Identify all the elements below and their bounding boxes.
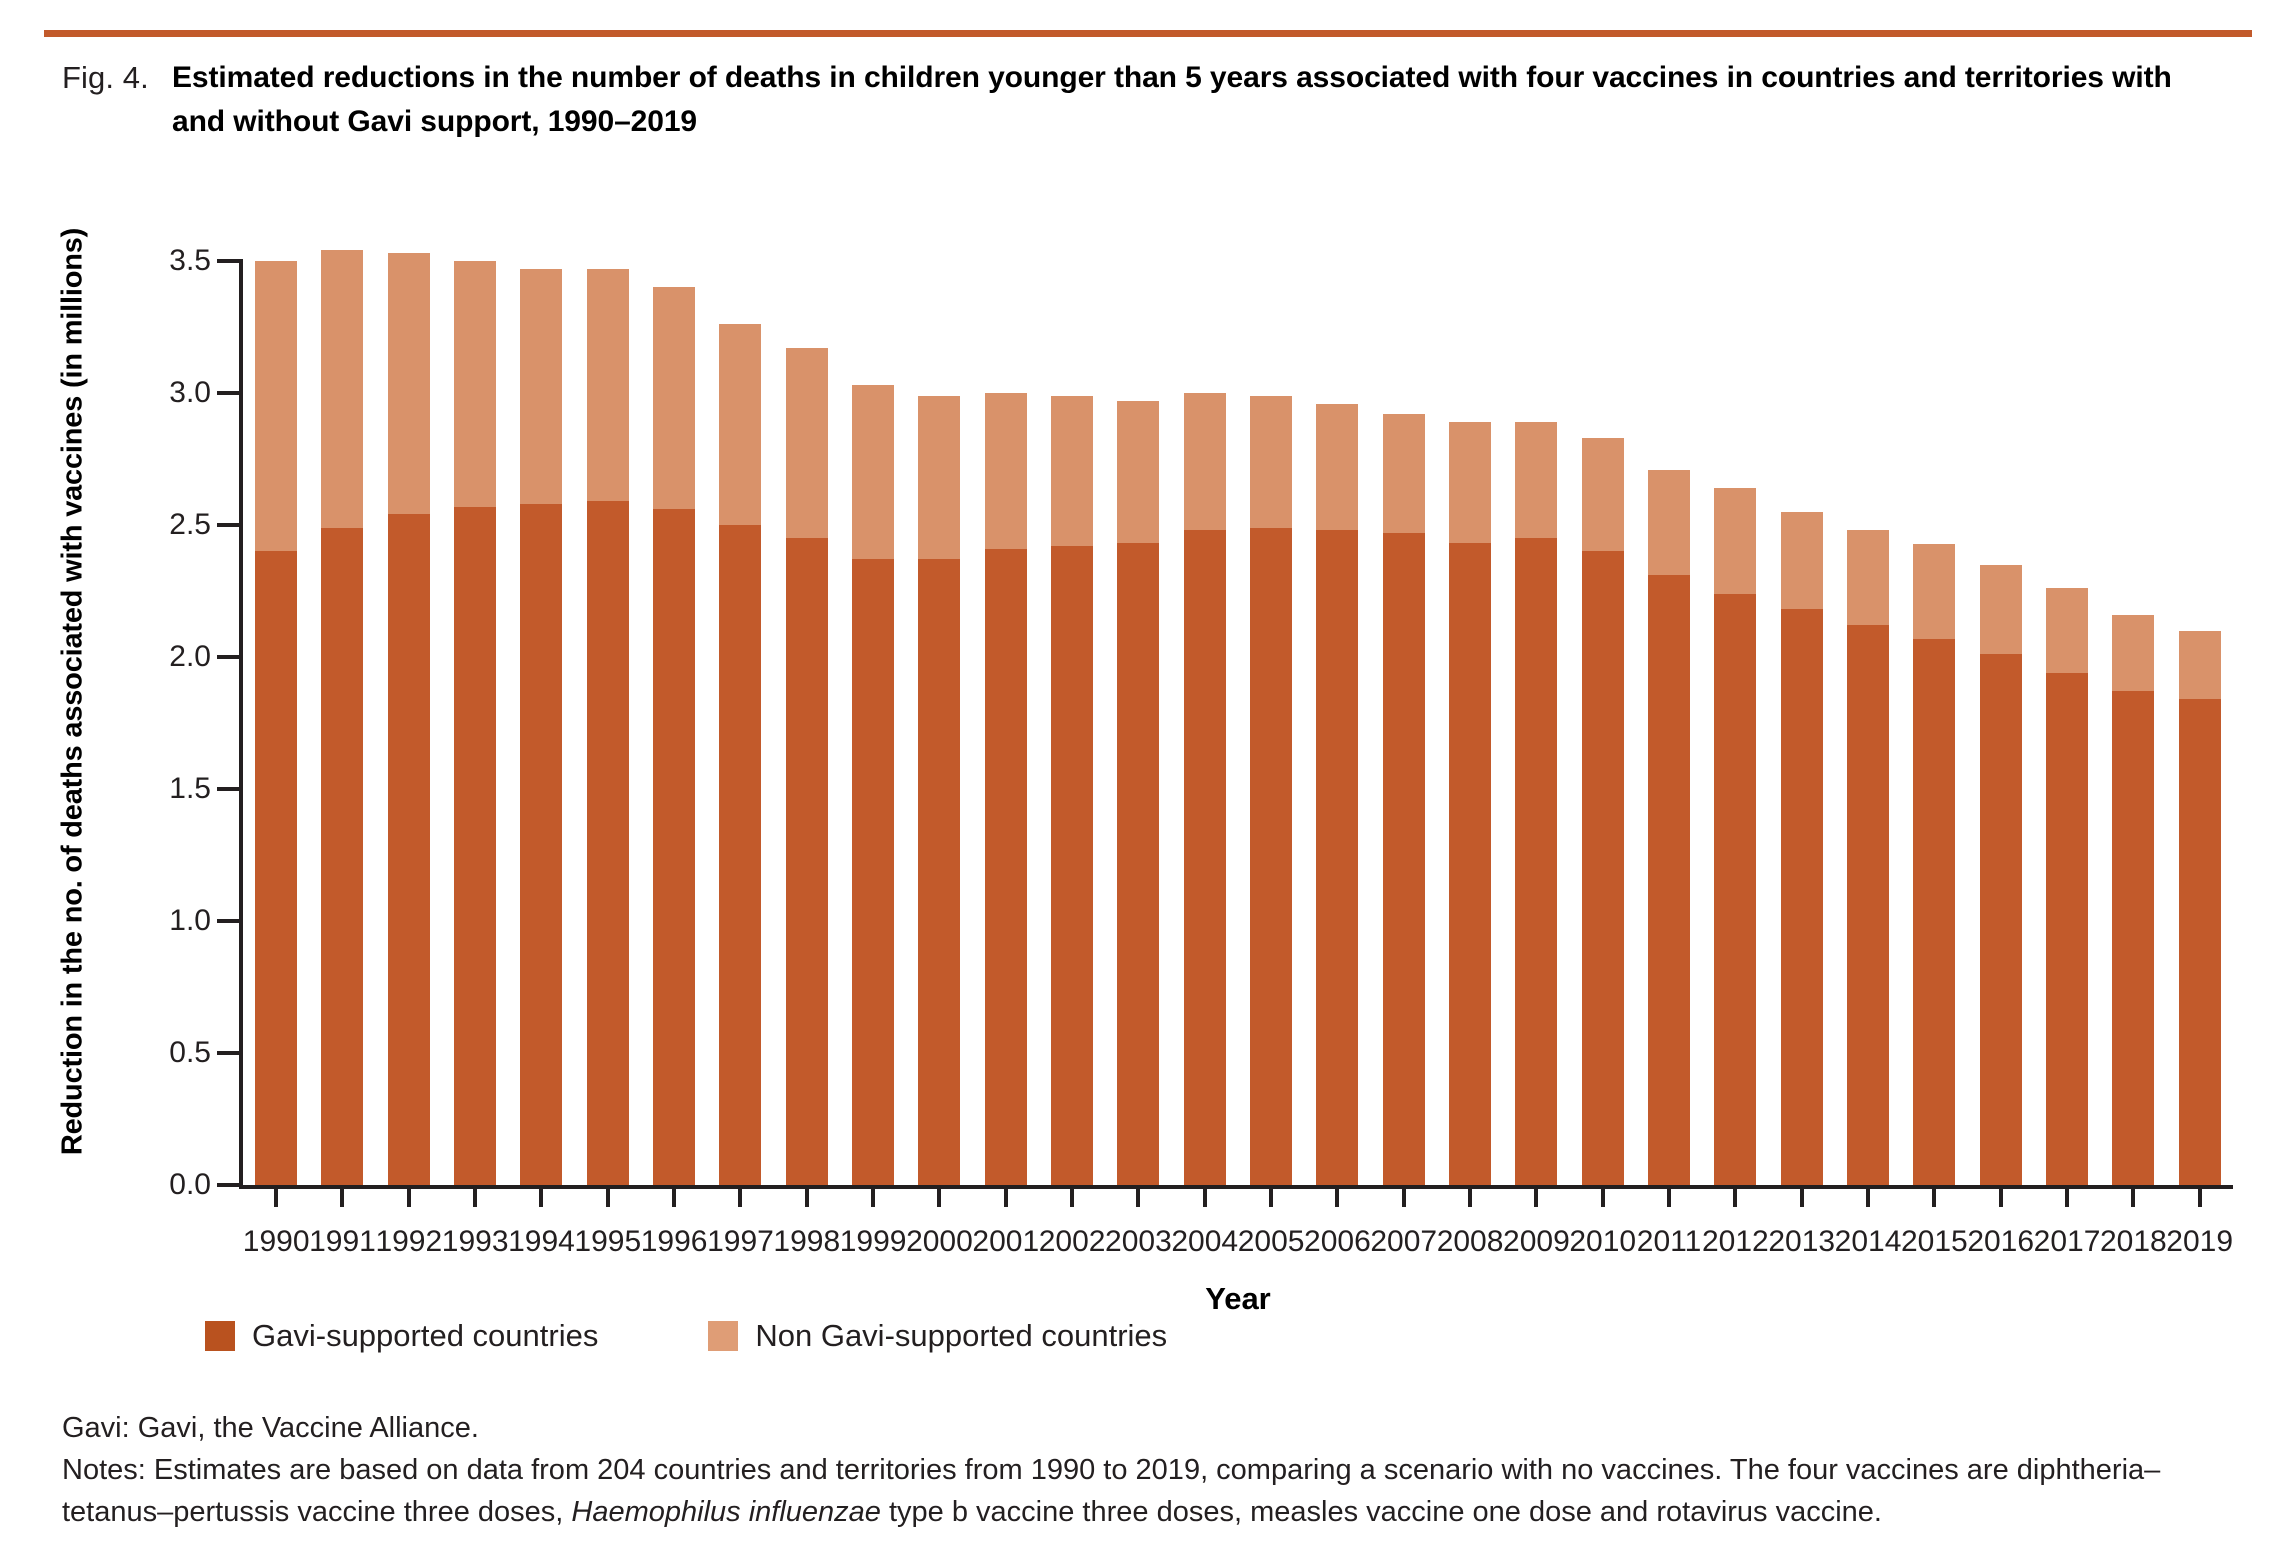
- bar-column[interactable]: 2006: [1304, 261, 1370, 1185]
- x-axis-tick-label: 1997: [707, 1225, 774, 1259]
- stacked-bar[interactable]: [1582, 438, 1624, 1185]
- x-axis-tick: [1136, 1185, 1140, 1207]
- x-axis-tick: [1468, 1185, 1472, 1207]
- x-axis-title: Year: [243, 1281, 2233, 1317]
- x-axis-tick: [1800, 1185, 1804, 1207]
- bar-segment-non-gavi[interactable]: [1383, 414, 1425, 533]
- bar-segment-non-gavi[interactable]: [2179, 631, 2221, 700]
- x-axis-tick: [274, 1185, 278, 1207]
- y-axis-tick: [217, 919, 241, 923]
- bar-segment-gavi[interactable]: [520, 504, 562, 1185]
- bar-segment-non-gavi[interactable]: [653, 287, 695, 509]
- x-axis-tick: [672, 1185, 676, 1207]
- bar-segment-gavi[interactable]: [1449, 543, 1491, 1185]
- stacked-bar[interactable]: [1051, 396, 1093, 1185]
- bar-column[interactable]: 2010: [1570, 261, 1636, 1185]
- bar-segment-gavi[interactable]: [454, 507, 496, 1185]
- legend-item-gavi: Gavi-supported countries: [205, 1318, 598, 1354]
- x-axis-tick: [1932, 1185, 1936, 1207]
- bar-segment-gavi[interactable]: [1781, 609, 1823, 1185]
- x-axis-tick-label: 2007: [1370, 1225, 1437, 1259]
- stacked-bar[interactable]: [1781, 512, 1823, 1185]
- stacked-bar[interactable]: [1648, 470, 1690, 1185]
- y-axis-tick: [217, 259, 241, 263]
- x-axis-tick: [2198, 1185, 2202, 1207]
- x-axis-tick-label: 2010: [1569, 1225, 1636, 1259]
- legend-label-gavi: Gavi-supported countries: [252, 1318, 598, 1354]
- bar-column[interactable]: 2001: [973, 261, 1039, 1185]
- stacked-bar[interactable]: [520, 269, 562, 1185]
- x-axis-tick: [738, 1185, 742, 1207]
- bar-segment-non-gavi[interactable]: [719, 324, 761, 525]
- note-line-2-pre: tetanus–pertussis vaccine three doses,: [62, 1496, 571, 1528]
- figure-title: Estimated reductions in the number of de…: [172, 56, 2172, 143]
- x-axis-tick-label: 2001: [972, 1225, 1039, 1259]
- y-axis-tick: [217, 787, 241, 791]
- y-axis-tick: [217, 1183, 241, 1187]
- y-axis-tick: [217, 655, 241, 659]
- bar-segment-gavi[interactable]: [1913, 639, 1955, 1185]
- stacked-bar[interactable]: [1117, 401, 1159, 1185]
- bar-segment-gavi[interactable]: [852, 559, 894, 1185]
- note-line-2-italic: Haemophilus influenzae: [571, 1496, 881, 1528]
- x-axis-tick: [2131, 1185, 2135, 1207]
- bar-column[interactable]: 2014: [1835, 261, 1901, 1185]
- bar-column[interactable]: 2015: [1901, 261, 1967, 1185]
- bar-segment-non-gavi[interactable]: [1847, 530, 1889, 625]
- bar-segment-gavi[interactable]: [1582, 551, 1624, 1185]
- chart-legend: Gavi-supported countries Non Gavi-suppor…: [205, 1318, 1167, 1354]
- note-line-1: Notes: Estimates are based on data from …: [62, 1450, 2262, 1492]
- x-axis-tick: [1402, 1185, 1406, 1207]
- x-axis-tick: [1335, 1185, 1339, 1207]
- stacked-bar[interactable]: [1847, 530, 1889, 1185]
- x-axis-tick: [340, 1185, 344, 1207]
- bar-segment-non-gavi[interactable]: [1648, 470, 1690, 576]
- bar-segment-non-gavi[interactable]: [985, 393, 1027, 549]
- bar-segment-gavi[interactable]: [2046, 673, 2088, 1185]
- figure-page: Fig. 4. Estimated reductions in the numb…: [0, 0, 2296, 1558]
- note-abbreviation: Gavi: Gavi, the Vaccine Alliance.: [62, 1408, 2262, 1450]
- stacked-bar[interactable]: [1714, 488, 1756, 1185]
- x-axis-tick-label: 2017: [2034, 1225, 2101, 1259]
- y-axis-tick: [217, 1051, 241, 1055]
- x-axis-tick-label: 1992: [375, 1225, 442, 1259]
- bar-segment-gavi[interactable]: [1316, 530, 1358, 1185]
- x-axis-tick: [606, 1185, 610, 1207]
- x-axis-tick: [937, 1185, 941, 1207]
- stacked-bar[interactable]: [255, 261, 297, 1185]
- bar-column[interactable]: 1998: [774, 261, 840, 1185]
- x-axis-tick-label: 2016: [1967, 1225, 2034, 1259]
- y-axis-tick-label: 0.5: [169, 1036, 211, 1070]
- bar-segment-gavi[interactable]: [1051, 546, 1093, 1185]
- bar-segment-non-gavi[interactable]: [454, 261, 496, 507]
- plot-area: 0.00.51.01.52.02.53.03.5 199019911992199…: [243, 261, 2233, 1185]
- stacked-bar[interactable]: [786, 348, 828, 1185]
- x-axis-tick-label: 2009: [1503, 1225, 1570, 1259]
- bar-segment-gavi[interactable]: [321, 528, 363, 1185]
- y-axis-tick-label: 3.5: [169, 244, 211, 278]
- bar-segment-non-gavi[interactable]: [1980, 565, 2022, 655]
- x-axis-tick: [1534, 1185, 1538, 1207]
- x-axis-tick-label: 1994: [508, 1225, 575, 1259]
- bar-segment-non-gavi[interactable]: [520, 269, 562, 504]
- stacked-bar[interactable]: [1184, 393, 1226, 1185]
- x-axis-tick-label: 2014: [1835, 1225, 1902, 1259]
- bar-segment-gavi[interactable]: [1117, 543, 1159, 1185]
- bar-segment-non-gavi[interactable]: [388, 253, 430, 514]
- stacked-bar[interactable]: [1980, 565, 2022, 1185]
- stacked-bar[interactable]: [918, 396, 960, 1185]
- x-axis-tick: [539, 1185, 543, 1207]
- x-axis-tick-label: 1991: [309, 1225, 376, 1259]
- x-axis-tick: [1070, 1185, 1074, 1207]
- bar-segment-non-gavi[interactable]: [1582, 438, 1624, 552]
- bar-segment-non-gavi[interactable]: [1316, 404, 1358, 531]
- y-axis-tick-label: 2.5: [169, 508, 211, 542]
- stacked-bar[interactable]: [587, 269, 629, 1185]
- figure-number: Fig. 4.: [62, 56, 172, 100]
- bar-segment-gavi[interactable]: [255, 551, 297, 1185]
- bar-segment-non-gavi[interactable]: [1714, 488, 1756, 594]
- x-axis-tick-label: 2011: [1637, 1225, 1702, 1259]
- x-axis-tick: [1004, 1185, 1008, 1207]
- y-axis-tick-label: 1.0: [169, 904, 211, 938]
- top-accent-rule: [44, 30, 2252, 37]
- bar-column[interactable]: 2002: [1039, 261, 1105, 1185]
- x-axis-tick-label: 2000: [906, 1225, 973, 1259]
- bar-column[interactable]: 2012: [1702, 261, 1768, 1185]
- bar-segment-non-gavi[interactable]: [587, 269, 629, 501]
- bar-column[interactable]: 1995: [575, 261, 641, 1185]
- stacked-bar[interactable]: [1250, 396, 1292, 1185]
- x-axis-tick-label: 2008: [1437, 1225, 1504, 1259]
- figure-notes: Gavi: Gavi, the Vaccine Alliance. Notes:…: [62, 1408, 2262, 1533]
- bar-column[interactable]: 1994: [508, 261, 574, 1185]
- bar-segment-non-gavi[interactable]: [1913, 544, 1955, 639]
- bar-column[interactable]: 2019: [2167, 261, 2233, 1185]
- bar-column[interactable]: 2007: [1371, 261, 1437, 1185]
- bar-segment-gavi[interactable]: [1714, 594, 1756, 1185]
- x-axis-tick-label: 2012: [1702, 1225, 1769, 1259]
- bar-segment-non-gavi[interactable]: [918, 396, 960, 560]
- legend-label-non-gavi: Non Gavi-supported countries: [755, 1318, 1167, 1354]
- x-axis-tick-label: 2006: [1304, 1225, 1371, 1259]
- bar-segment-gavi[interactable]: [2112, 691, 2154, 1185]
- bar-segment-non-gavi[interactable]: [1250, 396, 1292, 528]
- bar-segment-non-gavi[interactable]: [1515, 422, 1557, 538]
- y-axis-tick-labels: 0.00.51.01.52.02.53.03.5: [113, 261, 211, 1185]
- figure-caption: Fig. 4. Estimated reductions in the numb…: [62, 56, 2242, 143]
- x-axis-tick-label: 1990: [243, 1225, 310, 1259]
- note-line-2: tetanus–pertussis vaccine three doses, H…: [62, 1492, 2262, 1534]
- bar-segment-gavi[interactable]: [1847, 625, 1889, 1185]
- bar-column[interactable]: 2005: [1238, 261, 1304, 1185]
- bar-segment-gavi[interactable]: [985, 549, 1027, 1185]
- bar-segment-non-gavi[interactable]: [321, 250, 363, 527]
- x-axis-tick: [473, 1185, 477, 1207]
- bar-segment-non-gavi[interactable]: [1449, 422, 1491, 543]
- bar-segment-gavi[interactable]: [388, 514, 430, 1185]
- x-axis-tick: [1999, 1185, 2003, 1207]
- legend-swatch-non-gavi-icon: [708, 1321, 738, 1351]
- bar-column[interactable]: 2017: [2034, 261, 2100, 1185]
- stacked-bar[interactable]: [1316, 404, 1358, 1185]
- bar-column[interactable]: 1990: [243, 261, 309, 1185]
- stacked-bar[interactable]: [1913, 544, 1955, 1186]
- bar-column[interactable]: 1999: [840, 261, 906, 1185]
- bar-segment-gavi[interactable]: [1648, 575, 1690, 1185]
- bar-column[interactable]: 2016: [1968, 261, 2034, 1185]
- x-axis-tick-label: 1993: [442, 1225, 509, 1259]
- x-axis-tick-label: 2004: [1171, 1225, 1238, 1259]
- x-axis-tick-label: 1995: [574, 1225, 641, 1259]
- bar-segment-non-gavi[interactable]: [1117, 401, 1159, 544]
- bar-segment-non-gavi[interactable]: [852, 385, 894, 559]
- x-axis-tick-label: 1996: [641, 1225, 708, 1259]
- x-axis-tick: [1667, 1185, 1671, 1207]
- x-axis-tick-label: 2002: [1039, 1225, 1106, 1259]
- bar-series-group: 1990199119921993199419951996199719981999…: [243, 261, 2233, 1185]
- bar-segment-non-gavi[interactable]: [1781, 512, 1823, 610]
- bar-column[interactable]: 2003: [1105, 261, 1171, 1185]
- stacked-bar[interactable]: [1449, 422, 1491, 1185]
- x-axis-tick-label: 1999: [840, 1225, 907, 1259]
- bar-column[interactable]: 2011: [1636, 261, 1702, 1185]
- legend-swatch-gavi-icon: [205, 1321, 235, 1351]
- bar-column[interactable]: 2009: [1503, 261, 1569, 1185]
- bar-column[interactable]: 1993: [442, 261, 508, 1185]
- bar-segment-gavi[interactable]: [918, 559, 960, 1185]
- bar-segment-gavi[interactable]: [786, 538, 828, 1185]
- x-axis-tick-label: 2013: [1768, 1225, 1835, 1259]
- stacked-bar[interactable]: [985, 393, 1027, 1185]
- stacked-bar[interactable]: [719, 324, 761, 1185]
- x-axis-tick-label: 1998: [773, 1225, 840, 1259]
- bar-column[interactable]: 1991: [309, 261, 375, 1185]
- stacked-bar[interactable]: [454, 261, 496, 1185]
- bar-segment-non-gavi[interactable]: [1184, 393, 1226, 530]
- y-axis-tick-label: 0.0: [169, 1168, 211, 1202]
- stacked-bar[interactable]: [1515, 422, 1557, 1185]
- stacked-bar[interactable]: [388, 253, 430, 1185]
- bar-segment-gavi[interactable]: [1250, 528, 1292, 1185]
- x-axis-tick: [2065, 1185, 2069, 1207]
- stacked-bar[interactable]: [2112, 615, 2154, 1185]
- x-axis-tick-label: 2005: [1238, 1225, 1305, 1259]
- stacked-bar[interactable]: [653, 287, 695, 1185]
- y-axis-title: Reduction in the no. of deaths associate…: [57, 227, 90, 1157]
- bar-segment-non-gavi[interactable]: [2112, 615, 2154, 692]
- bar-column[interactable]: 2013: [1769, 261, 1835, 1185]
- bar-segment-non-gavi[interactable]: [255, 261, 297, 551]
- bar-segment-gavi[interactable]: [1980, 654, 2022, 1185]
- bar-column[interactable]: 1992: [376, 261, 442, 1185]
- bar-segment-gavi[interactable]: [719, 525, 761, 1185]
- x-axis-tick: [1866, 1185, 1870, 1207]
- x-axis-tick: [1733, 1185, 1737, 1207]
- y-axis-tick-label: 1.5: [169, 772, 211, 806]
- bar-segment-non-gavi[interactable]: [786, 348, 828, 538]
- stacked-bar[interactable]: [2046, 588, 2088, 1185]
- x-axis-tick: [805, 1185, 809, 1207]
- bar-column[interactable]: 1997: [707, 261, 773, 1185]
- bar-column[interactable]: 2018: [2100, 261, 2166, 1185]
- x-axis-tick: [407, 1185, 411, 1207]
- bar-segment-gavi[interactable]: [1184, 530, 1226, 1185]
- bar-column[interactable]: 2004: [1172, 261, 1238, 1185]
- x-axis-tick: [871, 1185, 875, 1207]
- x-axis-tick-label: 2003: [1105, 1225, 1172, 1259]
- bar-segment-non-gavi[interactable]: [2046, 588, 2088, 672]
- stacked-bar[interactable]: [852, 385, 894, 1185]
- y-axis-tick-label: 3.0: [169, 376, 211, 410]
- chart-container: Reduction in the no. of deaths associate…: [0, 215, 2296, 1245]
- x-axis-tick: [1269, 1185, 1273, 1207]
- bar-segment-gavi[interactable]: [2179, 699, 2221, 1185]
- stacked-bar[interactable]: [2179, 631, 2221, 1185]
- bar-column[interactable]: 2000: [906, 261, 972, 1185]
- x-axis-tick-label: 2015: [1901, 1225, 1968, 1259]
- stacked-bar[interactable]: [321, 250, 363, 1185]
- y-axis-tick: [217, 523, 241, 527]
- stacked-bar[interactable]: [1383, 414, 1425, 1185]
- x-axis-tick: [1203, 1185, 1207, 1207]
- legend-item-non-gavi: Non Gavi-supported countries: [708, 1318, 1167, 1354]
- y-axis-tick: [217, 391, 241, 395]
- note-line-2-post: type b vaccine three doses, measles vacc…: [881, 1496, 1882, 1528]
- bar-segment-gavi[interactable]: [587, 501, 629, 1185]
- y-axis-tick-label: 2.0: [169, 640, 211, 674]
- bar-column[interactable]: 2008: [1437, 261, 1503, 1185]
- bar-segment-gavi[interactable]: [1515, 538, 1557, 1185]
- x-axis-tick-label: 2019: [2166, 1225, 2233, 1259]
- x-axis-tick: [1601, 1185, 1605, 1207]
- bar-segment-gavi[interactable]: [653, 509, 695, 1185]
- bar-column[interactable]: 1996: [641, 261, 707, 1185]
- x-axis-tick-label: 2018: [2100, 1225, 2167, 1259]
- bar-segment-gavi[interactable]: [1383, 533, 1425, 1185]
- bar-segment-non-gavi[interactable]: [1051, 396, 1093, 546]
